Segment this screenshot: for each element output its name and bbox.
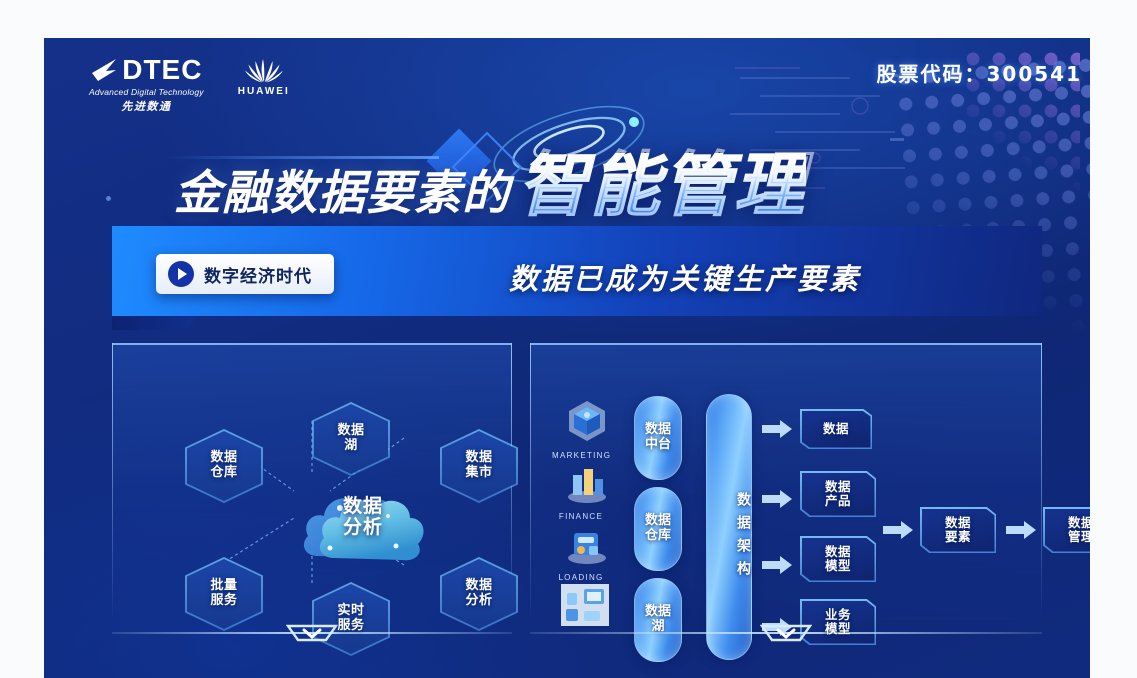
dot-decoration (106, 196, 111, 201)
output-line1: 数据 (825, 479, 851, 494)
output-line1: 数据 (823, 421, 849, 436)
result-line1: 数据 (945, 515, 971, 530)
capsule-line1: 数据 (645, 422, 671, 437)
stock-code: 股票代码：300541 (877, 58, 1083, 87)
output-line2: 产品 (825, 493, 851, 508)
right-panel-footer (530, 618, 1042, 648)
title-primary: 金融数据要素的 (174, 170, 510, 217)
dtec-logo: DTEC Advanced Digital Technology 先进数通 (89, 56, 204, 114)
node-label-line2: 集市 (465, 465, 492, 480)
node-label-line2: 服务 (210, 593, 237, 608)
chevron-down-icon (760, 622, 812, 644)
huawei-wordmark: HUAWEI (238, 86, 290, 97)
final-data-management[interactable]: 数据 管理 (1043, 507, 1090, 553)
banner-headline: 数据已成为关键生产要素 (509, 256, 861, 298)
arrow-right-icon (762, 556, 792, 574)
section-tag[interactable]: 数字经济时代 (156, 254, 334, 294)
node-label-line2: 仓库 (210, 465, 237, 480)
capsule-data-warehouse[interactable]: 数据 仓库 (634, 487, 682, 571)
title-highlight: 智能管理 (518, 153, 806, 217)
final-line1: 数据 (1068, 515, 1090, 530)
play-icon (168, 261, 194, 287)
final-line2: 管理 (1068, 529, 1090, 544)
arrow-right-icon (762, 420, 792, 438)
chevron-down-icon (286, 622, 338, 644)
dtec-wordmark: DTEC (122, 56, 202, 84)
output-data-product[interactable]: 数据 产品 (800, 471, 876, 517)
node-label-line1: 数据 (337, 423, 364, 438)
page-title: 金融数据要素的 智能管理 (174, 153, 806, 217)
banner-shadow-tail (112, 316, 198, 330)
output-line1: 数据 (825, 544, 851, 559)
huawei-flower-icon (244, 56, 284, 84)
output-data[interactable]: 数据 (800, 409, 872, 449)
dtec-mark-icon (90, 57, 120, 83)
source-label: LOADING (552, 573, 610, 582)
node-data-warehouse[interactable]: 数据 仓库 (185, 429, 263, 503)
dtec-chinese-name: 先进数通 (121, 98, 171, 114)
result-data-element[interactable]: 数据 要素 (920, 507, 996, 553)
node-label-line2: 湖 (344, 438, 358, 453)
node-label-line1: 数据 (210, 450, 237, 465)
capsule-line1: 数据 (645, 513, 671, 528)
poster-canvas: DTEC Advanced Digital Technology 先进数通 HU… (44, 38, 1090, 678)
source-finance[interactable]: FINANCE (552, 459, 610, 521)
logo-group: DTEC Advanced Digital Technology 先进数通 HU… (89, 56, 290, 114)
source-loading[interactable]: LOADING (552, 520, 610, 582)
capsule-line2: 中台 (645, 437, 671, 452)
section-tag-label: 数字经济时代 (204, 262, 312, 287)
huawei-logo: HUAWEI (238, 56, 290, 97)
left-panel-footer (112, 618, 512, 648)
arrow-right-icon (883, 521, 913, 539)
node-label-line1: 数据 (465, 578, 492, 593)
chart-building-icon (564, 459, 610, 505)
output-data-model[interactable]: 数据 模型 (800, 536, 876, 582)
node-label-line2: 服务 (337, 618, 364, 633)
output-line1: 业务 (825, 607, 851, 622)
dtec-tagline: Advanced Digital Technology (89, 87, 204, 97)
arrow-right-icon (1006, 521, 1036, 539)
loading-box-icon (564, 520, 610, 566)
arrow-right-icon (762, 490, 792, 508)
capsule-data-midplatform[interactable]: 数据 中台 (634, 396, 682, 480)
result-line2: 要素 (945, 529, 971, 544)
node-label-line1: 批量 (210, 578, 237, 593)
output-line2: 模型 (825, 621, 851, 636)
cube-hex-icon (564, 398, 610, 444)
center-cloud-label: 数据 分析 (300, 496, 426, 538)
output-line2: 模型 (825, 558, 851, 573)
node-data-lake[interactable]: 数据 湖 (312, 402, 390, 476)
capsule-line1: 数据 (645, 604, 671, 619)
cloud-label-line2: 分析 (300, 517, 426, 538)
node-label-line1: 数据 (465, 450, 492, 465)
node-label-line2: 分析 (465, 593, 492, 608)
cloud-label-line1: 数据 (300, 496, 426, 517)
source-marketing[interactable]: MARKETING (552, 398, 610, 460)
capsule-line2: 仓库 (645, 528, 671, 543)
node-data-mart[interactable]: 数据 集市 (440, 429, 518, 503)
node-label-line1: 实时 (337, 603, 364, 618)
